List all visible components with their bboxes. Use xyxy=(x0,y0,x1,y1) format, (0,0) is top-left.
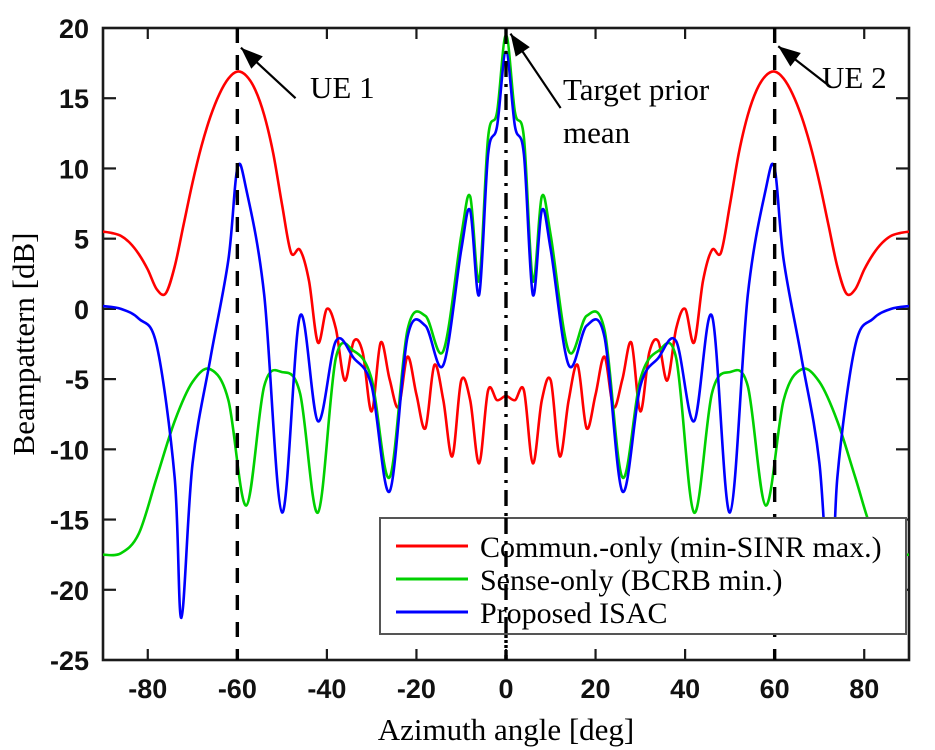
y-tick-label: 5 xyxy=(74,225,89,255)
y-tick-label: -10 xyxy=(50,435,89,465)
x-tick-label: 40 xyxy=(670,674,700,704)
annotation-ue1-label: UE 1 xyxy=(310,70,375,105)
x-tick-label: 80 xyxy=(849,674,879,704)
y-tick-label: -15 xyxy=(50,506,89,536)
x-axis-label: Azimuth angle [deg] xyxy=(378,712,635,747)
beampattern-figure: -80-60-40-20020406080-25-20-15-10-505101… xyxy=(0,0,935,750)
x-tick-label: 0 xyxy=(498,674,513,704)
x-tick-label: 20 xyxy=(581,674,611,704)
y-tick-label: 20 xyxy=(59,14,89,44)
y-tick-label: -5 xyxy=(65,365,89,395)
x-tick-label: -80 xyxy=(128,674,167,704)
y-tick-label: -25 xyxy=(50,646,89,676)
legend-label-0: Commun.-only (min-SINR max.) xyxy=(480,531,882,564)
annotation-target-prior-line2: mean xyxy=(563,115,631,150)
chart-canvas: -80-60-40-20020406080-25-20-15-10-505101… xyxy=(0,0,935,750)
legend-label-2: Proposed ISAC xyxy=(480,597,668,630)
x-tick-label: -20 xyxy=(397,674,436,704)
annotation-ue2-label: UE 2 xyxy=(822,60,887,95)
y-tick-label: -20 xyxy=(50,576,89,606)
x-tick-label: -60 xyxy=(218,674,257,704)
y-tick-label: 0 xyxy=(74,295,89,325)
y-tick-label: 15 xyxy=(59,84,89,114)
y-tick-label: 10 xyxy=(59,154,89,184)
x-tick-label: -40 xyxy=(307,674,346,704)
legend-label-1: Sense-only (BCRB min.) xyxy=(480,564,783,597)
x-tick-label: 60 xyxy=(760,674,790,704)
y-axis-label: Beampattern [dB] xyxy=(6,233,41,456)
annotation-target-prior-line1: Target prior xyxy=(563,72,710,107)
